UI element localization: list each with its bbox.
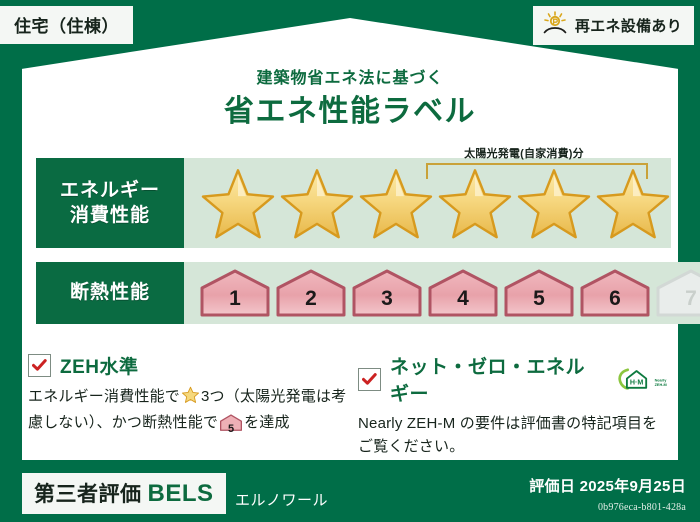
- property-name: エルノワール: [235, 489, 328, 510]
- insulation-level-value: 3: [351, 287, 423, 311]
- document-id: 0b976eca-b801-428a: [598, 502, 686, 513]
- insulation-level-5: 5: [503, 268, 575, 318]
- criteria-zeh-header: ZEH水準: [28, 352, 348, 379]
- insulation-level-2: 2: [275, 268, 347, 318]
- energy-label-line2: 消費性能: [70, 204, 150, 227]
- criteria-zeh-text-1: エネルギー消費性能で: [28, 388, 180, 405]
- criteria-nze-header: ネット・ゼロ・エネルギー H·M Nearly ZEH-M: [358, 352, 668, 406]
- third-party-evaluation-label: 第三者評価: [34, 478, 142, 508]
- zeh-m-logo: H·M Nearly ZEH-M: [616, 367, 668, 391]
- criteria-nze-description: Nearly ZEH-M の要件は評価書の特記項目をご覧ください。: [358, 413, 668, 459]
- energy-label-root: 住宅（住棟） 再エネ設備あり 建築物省エネ法に基づく 省エネ性能ラベル 太陽光発…: [0, 0, 700, 522]
- dwelling-type-label: 住宅（住棟）: [14, 17, 119, 36]
- checkbox-zeh-standard[interactable]: [28, 354, 51, 377]
- insulation-level-scale: 1234567: [184, 268, 700, 318]
- label-subtitle: 建築物省エネ法に基づく: [0, 64, 700, 88]
- zeh-m-logo-text: H·M: [630, 378, 644, 386]
- insulation-level-value: 1: [199, 287, 271, 311]
- inline-insulation-badge: 5: [220, 414, 242, 439]
- zeh-m-logo-sub1: Nearly: [655, 379, 668, 383]
- insulation-level-7: 7: [655, 268, 700, 318]
- insulation-level-1: 1: [199, 268, 271, 318]
- insulation-level-value: 7: [655, 287, 700, 311]
- page-title: 省エネ性能ラベル: [0, 86, 700, 130]
- zeh-m-logo-sub2: ZEH-M: [655, 383, 667, 387]
- inline-insulation-badge-value: 5: [220, 421, 242, 438]
- insulation-level-value: 5: [503, 287, 575, 311]
- bels-brand-label: BELS: [148, 480, 214, 508]
- check-icon: [32, 359, 47, 372]
- energy-performance-label: エネルギー 消費性能: [36, 158, 184, 248]
- criteria-zeh-standard: ZEH水準 エネルギー消費性能で3つ（太陽光発電は考慮しない）、かつ断熱性能で5…: [28, 352, 348, 439]
- criteria-zeh-text-3: を達成: [244, 414, 290, 431]
- insulation-level-3: 3: [351, 268, 423, 318]
- renewable-equipment-chip: 再エネ設備あり: [533, 6, 694, 45]
- insulation-performance-row: 断熱性能 1234567: [36, 262, 664, 324]
- renewable-equipment-label: 再エネ設備あり: [575, 15, 682, 36]
- evaluation-date: 評価日 2025年9月25日: [529, 475, 686, 496]
- insulation-level-value: 6: [579, 287, 651, 311]
- inline-star-icon: [181, 391, 200, 408]
- solar-generation-bracket: [426, 163, 648, 179]
- insulation-label-text: 断熱性能: [70, 281, 150, 304]
- criteria-nze-title: ネット・ゼロ・エネルギー: [390, 352, 601, 406]
- criteria-zeh-title: ZEH水準: [60, 352, 139, 379]
- star-icon: [358, 166, 434, 240]
- insulation-level-4: 4: [427, 268, 499, 318]
- solar-generation-note: 太陽光発電(自家消費)分: [404, 145, 644, 161]
- energy-label-line1: エネルギー: [60, 179, 160, 202]
- dwelling-type-chip: 住宅（住棟）: [0, 6, 133, 44]
- insulation-level-6: 6: [579, 268, 651, 318]
- insulation-performance-body: 1234567: [184, 262, 700, 324]
- sun-icon: [542, 11, 568, 40]
- criteria-zeh-description: エネルギー消費性能で3つ（太陽光発電は考慮しない）、かつ断熱性能で5を達成: [28, 386, 348, 439]
- check-icon: [362, 373, 377, 386]
- star-icon: [200, 166, 276, 240]
- insulation-performance-label: 断熱性能: [36, 262, 184, 324]
- insulation-level-value: 4: [427, 287, 499, 311]
- criteria-net-zero-energy: ネット・ゼロ・エネルギー H·M Nearly ZEH-M Nearly ZEH…: [358, 352, 668, 459]
- checkbox-net-zero-energy[interactable]: [358, 368, 381, 391]
- evaluation-date-value: 2025年9月25日: [580, 478, 686, 495]
- star-icon: [279, 166, 355, 240]
- evaluation-date-label: 評価日: [529, 478, 575, 495]
- insulation-level-value: 2: [275, 287, 347, 311]
- third-party-evaluation-chip: 第三者評価 BELS: [22, 473, 226, 514]
